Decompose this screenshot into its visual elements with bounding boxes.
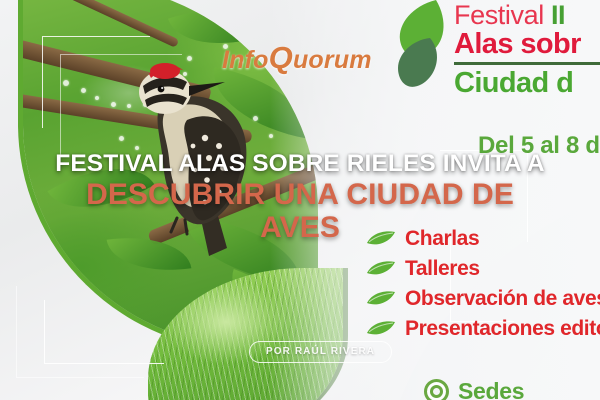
infoquorum-logo[interactable]: InfoQuorum	[222, 40, 372, 76]
festival-title-line3: Ciudad d	[454, 67, 600, 99]
agenda-item-label: Talleres	[405, 257, 480, 281]
agenda-item-label: Charlas	[405, 227, 479, 251]
festival-title-line1: Festival II	[454, 0, 600, 30]
festival-titles: Festival II Alas sobr Ciudad d	[454, 0, 600, 99]
agenda-item-label: Observación de aves	[405, 287, 600, 311]
leaf-bullet-icon	[366, 230, 396, 248]
venues-section[interactable]: Sedes	[424, 378, 524, 400]
author-byline-pill[interactable]: POR RAÚL RIVERA	[249, 341, 392, 363]
list-item[interactable]: Talleres	[366, 254, 600, 284]
list-item[interactable]: Presentaciones editor	[366, 314, 600, 344]
agenda-item-label: Presentaciones editor	[405, 317, 600, 341]
target-ring-icon	[424, 379, 449, 400]
leaf-bullet-icon	[366, 320, 396, 338]
festival-roman-numeral: II	[551, 0, 565, 30]
bluebird-photo-panel	[148, 268, 348, 400]
leaf-bullet-icon	[366, 260, 396, 278]
venues-label: Sedes	[458, 378, 524, 400]
bluebird-detail-icon	[226, 387, 336, 400]
brand-prefix: Info	[222, 46, 269, 74]
festival-title-line2: Alas sobr	[454, 28, 600, 60]
festival-dates: Del 5 al 8 d	[478, 132, 600, 160]
list-item[interactable]: Observación de aves	[366, 284, 600, 314]
leaf-bullet-icon	[366, 290, 396, 308]
bluebird-photo	[148, 268, 343, 400]
leaf-logo-icon	[392, 0, 450, 90]
brand-accent-letter: Q	[269, 40, 293, 75]
poster-canvas: InfoQuorum Festival II Alas sobr Ciudad …	[0, 0, 600, 400]
agenda-list: Charlas Talleres Observación de aves Pre…	[366, 224, 600, 344]
brand-suffix: uorum	[293, 46, 372, 74]
woodpecker-illustration	[109, 42, 289, 272]
list-item[interactable]: Charlas	[366, 224, 600, 254]
festival-word: Festival	[454, 0, 544, 30]
title-divider-rule	[454, 62, 600, 65]
